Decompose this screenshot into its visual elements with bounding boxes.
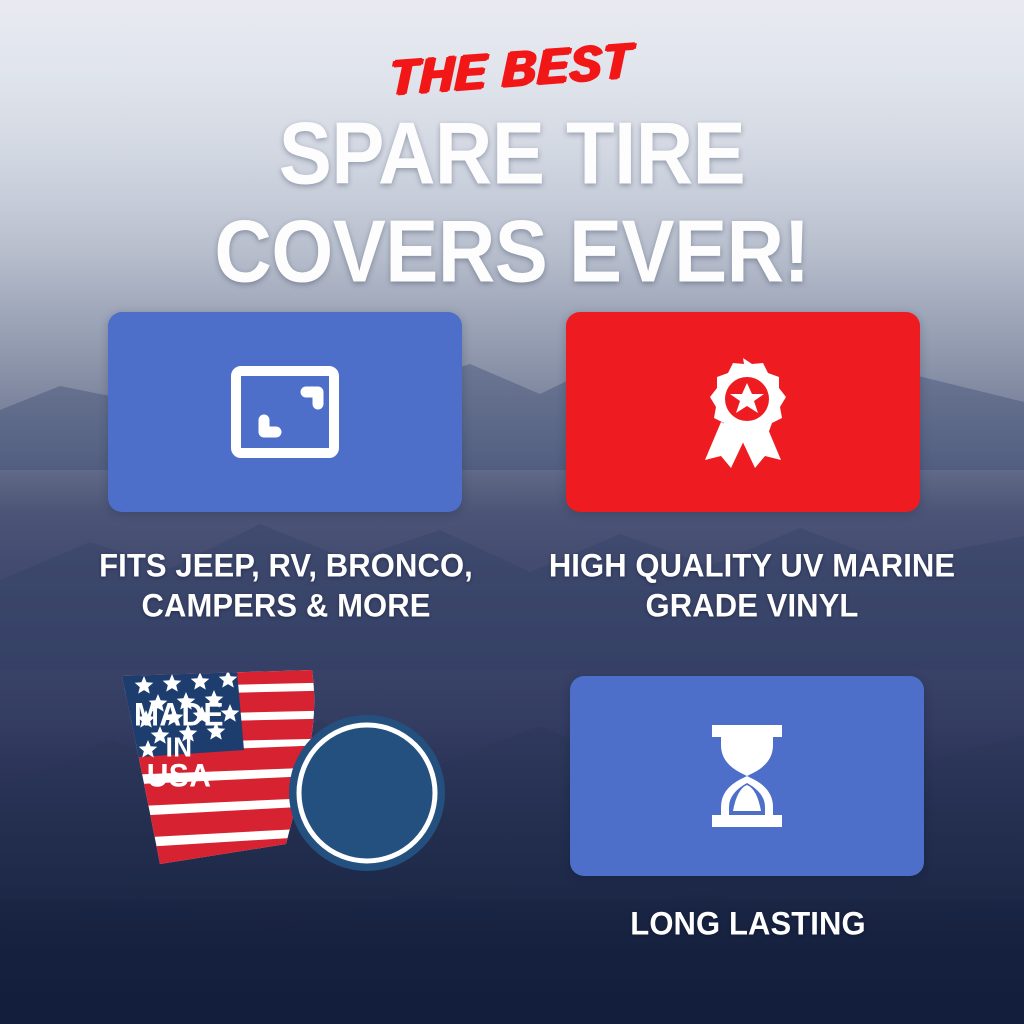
made-in-usa-badge-text: MADE IN USA bbox=[100, 668, 258, 826]
feature-caption-fits: FITS JEEP, RV, BRONCO, CAMPERS & MORE bbox=[74, 546, 498, 625]
made-in-usa-block: MADE IN USA bbox=[100, 668, 460, 883]
feature-caption-quality: HIGH QUALITY UV MARINE GRADE VINYL bbox=[540, 546, 964, 625]
badge-line-made: MADE bbox=[134, 700, 224, 733]
badge-line-in: IN bbox=[166, 733, 193, 762]
feature-caption-lasting: LONG LASTING bbox=[548, 904, 948, 944]
headline-eyebrow: THE BEST bbox=[390, 36, 634, 103]
headline-block: THE BEST SPARE TIRE COVERS EVER! bbox=[0, 46, 1024, 285]
badge-line-usa: USA bbox=[147, 761, 212, 794]
feature-tile-lasting bbox=[570, 676, 924, 876]
resize-frame-icon bbox=[231, 366, 339, 458]
feature-tile-fits bbox=[108, 312, 462, 512]
award-ribbon-icon bbox=[691, 356, 795, 468]
headline-line-2: COVERS EVER! bbox=[0, 208, 1024, 294]
feature-tile-quality bbox=[566, 312, 920, 512]
made-in-usa-badge bbox=[288, 714, 446, 872]
infographic-canvas: THE BEST SPARE TIRE COVERS EVER! FITS JE… bbox=[0, 0, 1024, 1024]
headline-line-1: SPARE TIRE bbox=[0, 110, 1024, 196]
hourglass-icon bbox=[707, 723, 787, 829]
